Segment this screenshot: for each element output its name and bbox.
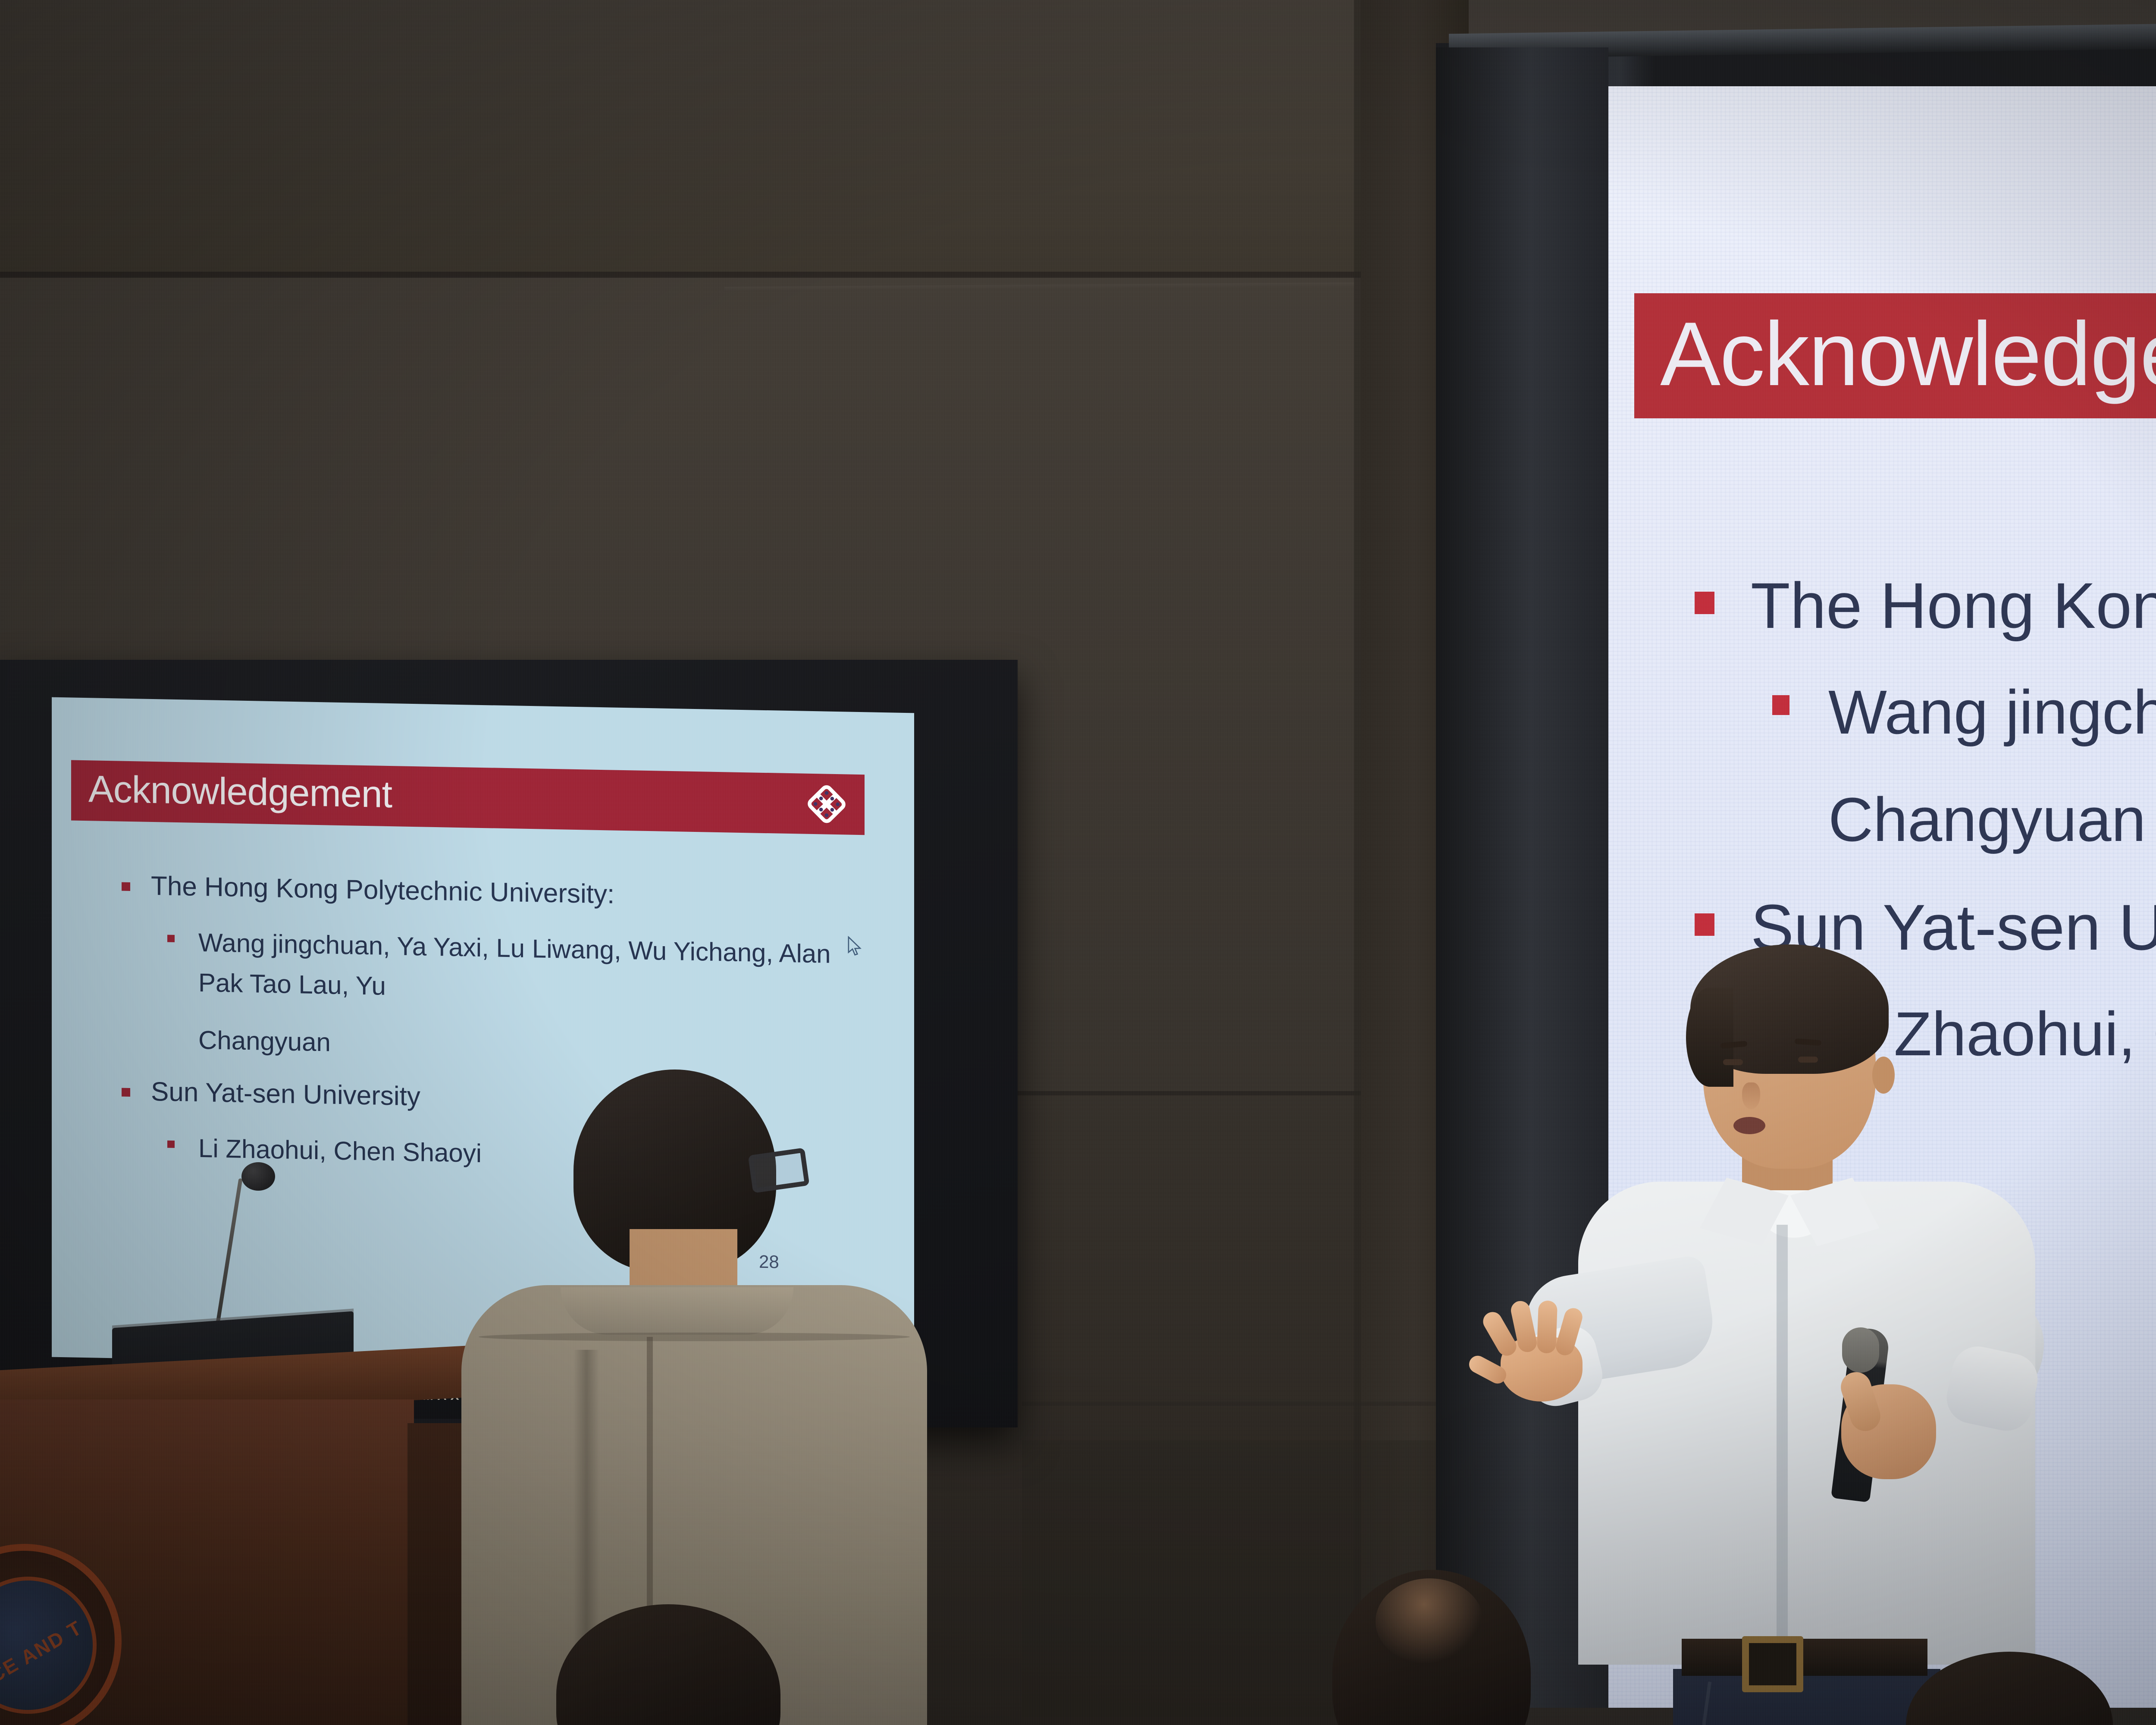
- bullet-square-icon: [1695, 592, 1714, 614]
- monitor-bullet-1: The Hong Kong Polytechnic University:: [116, 871, 849, 913]
- monitor-bullet-4-label: Sun Yat-sen University: [151, 1077, 420, 1111]
- presentation-room-photo: Acknowledgement The Hong Kong Polytech W…: [0, 0, 2156, 1725]
- projection-bullet-1: The Hong Kong Polytech: [1686, 569, 2156, 642]
- presenter-nose: [1742, 1082, 1760, 1109]
- belt-buckle-icon: [1742, 1636, 1803, 1692]
- mouse-pointer-icon: [847, 936, 862, 958]
- presenter-sideburn: [1686, 988, 1733, 1087]
- presenter-belt: [1682, 1639, 1927, 1676]
- monitor-slide-title: Acknowledgement: [88, 770, 392, 813]
- projection-bullet-2: Wang jingchuan, Ya Y: [1686, 668, 2156, 758]
- monitor-bullet-3: Changyuan: [116, 1019, 849, 1072]
- monitor-title-banner: Acknowledgement: [71, 760, 865, 835]
- polyu-diamond-logo-icon: [806, 783, 847, 825]
- bullet-square-icon: [122, 882, 130, 891]
- projection-bullet-3: Changyuan: [1686, 775, 2156, 865]
- monitor-bullet-2: Wang jingchuan, Ya Yaxi, Lu Liwang, Wu Y…: [116, 921, 849, 1015]
- wall-seam-3: [1022, 1402, 1466, 1406]
- presenter-ear: [1872, 1057, 1895, 1094]
- hand-finger-3: [1537, 1300, 1557, 1353]
- bullet-square-icon: [167, 1141, 175, 1148]
- bullet-square-icon: [1695, 913, 1714, 936]
- monitor-bullet-3-label: Changyuan: [198, 1026, 331, 1057]
- wooden-podium: ENCE AND T: [0, 1358, 466, 1725]
- presenter-gesturing-hand: [1475, 1298, 1600, 1406]
- monitor-bullet-2-label: Wang jingchuan, Ya Yaxi, Lu Liwang, Wu Y…: [198, 928, 831, 1000]
- bullet-square-icon: [167, 935, 175, 942]
- presenter-shirt: [1578, 1182, 2035, 1665]
- monitor-bullet-1-label: The Hong Kong Polytechnic University:: [151, 871, 614, 910]
- projection-title-banner: Acknowledgement: [1634, 293, 2156, 418]
- wall-panel-top: [0, 0, 1466, 276]
- seated-attendee-collar: [561, 1287, 793, 1335]
- projection-bullet-3-label: Changyuan: [1828, 785, 2146, 854]
- presenter-mouth: [1733, 1117, 1765, 1134]
- eyeglasses-icon: [748, 1148, 810, 1193]
- projection-bullet-2-label: Wang jingchuan, Ya Y: [1828, 677, 2156, 747]
- gooseneck-microphone-icon: [241, 1162, 275, 1191]
- hand-finger-4: [1554, 1306, 1584, 1357]
- presenter-shirt-placket: [1777, 1225, 1788, 1660]
- presenter: [1501, 940, 2147, 1725]
- microphone-grille-icon: [1842, 1327, 1879, 1373]
- bullet-square-icon: [122, 1088, 130, 1097]
- shirt-yoke-seam: [479, 1333, 910, 1341]
- presenter-eye-right: [1798, 1057, 1818, 1063]
- bullet-square-icon: [1772, 695, 1789, 715]
- wall-seam-1: [0, 272, 1466, 278]
- audience-head-1-scalp: [1376, 1578, 1483, 1665]
- projection-bullet-1-label: The Hong Kong Polytech: [1751, 569, 2156, 642]
- presenter-eye-left: [1723, 1059, 1743, 1065]
- projection-title: Acknowledgement: [1660, 309, 2156, 399]
